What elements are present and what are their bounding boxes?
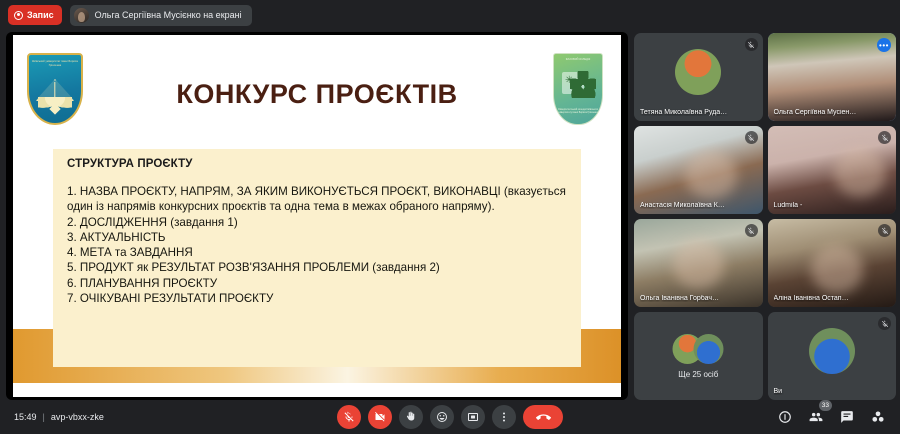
bottom-right-actions: 33	[775, 407, 888, 427]
more-people-label: Ще 25 осіб	[634, 370, 763, 379]
people-count-badge: 33	[819, 400, 832, 411]
meeting-info: 15:49 | avp-vbxx-zke	[14, 412, 104, 422]
video-feed	[634, 219, 763, 307]
slide-line-1: 1. НАЗВА ПРОЄКТУ, НАПРЯМ, ЗА ЯКИМ ВИКОНУ…	[67, 184, 567, 215]
mic-off-icon	[745, 131, 758, 144]
shared-screen-stage[interactable]: Київський університет імені Бориса Грінч…	[6, 32, 628, 400]
avatar	[694, 334, 724, 364]
mic-off-icon	[745, 224, 758, 237]
participant-tile-ostapenko[interactable]: Аліна Іванівна Остап…	[768, 219, 897, 307]
slide-line-6: 6. ПЛАНУВАННЯ ПРОЄКТУ	[67, 276, 567, 291]
end-call-button[interactable]	[523, 405, 563, 429]
participant-name: Ludmila -	[774, 202, 879, 209]
clock-label: 15:49	[14, 412, 37, 422]
mic-off-icon	[878, 224, 891, 237]
participant-tile-ludmila[interactable]: Ludmila -	[768, 126, 897, 214]
participant-tile-ruda[interactable]: Тетяна Миколаївна Руда…	[634, 33, 763, 121]
reactions-button[interactable]	[430, 405, 454, 429]
raise-hand-button[interactable]	[399, 405, 423, 429]
bottom-bar: 15:49 | avp-vbxx-zke 33	[0, 400, 900, 434]
avatar	[675, 49, 721, 95]
participant-name: Ольга Іванівна Горбач…	[640, 295, 745, 302]
meeting-details-button[interactable]	[775, 407, 795, 427]
video-feed	[634, 126, 763, 214]
participant-tile-horbach[interactable]: Ольга Іванівна Горбач…	[634, 219, 763, 307]
participant-name: Ви	[774, 388, 879, 395]
activities-button[interactable]	[868, 407, 888, 427]
slide-decor-footer	[13, 383, 621, 397]
presenter-label: Ольга Сергіївна Мусієнко на екрані	[95, 10, 242, 20]
presentation-slide: Київський університет імені Бориса Грінч…	[13, 35, 621, 397]
participant-name: Ольга Сергіївна Мусіен…	[774, 109, 879, 116]
slide-panel-list: 1. НАЗВА ПРОЄКТУ, НАПРЯМ, ЗА ЯКИМ ВИКОНУ…	[67, 184, 567, 306]
top-bar: Запис Ольга Сергіївна Мусієнко на екрані	[0, 0, 900, 30]
presenter-avatar-icon	[74, 8, 89, 23]
mic-off-icon	[878, 317, 891, 330]
mic-off-icon	[745, 38, 758, 51]
tile-options-icon[interactable]: •••	[877, 38, 891, 52]
slide-line-2: 2. ДОСЛІДЖЕННЯ (завдання 1)	[67, 215, 567, 230]
slide-line-4: 4. МЕТА та ЗАВДАННЯ	[67, 245, 567, 260]
participant-name: Аліна Іванівна Остап…	[774, 295, 879, 302]
slide-panel-heading: СТРУКТУРА ПРОЄКТУ	[67, 158, 567, 170]
participant-name: Анастасія Миколаївна К…	[640, 202, 745, 209]
crest-left-caption: Київський університет імені Бориса Грінч…	[29, 60, 81, 68]
slide-line-7: 7. ОЧІКУВАНІ РЕЗУЛЬТАТИ ПРОЄКТУ	[67, 291, 567, 306]
participant-tile-self[interactable]: Ви	[768, 312, 897, 400]
recording-label: Запис	[27, 10, 54, 20]
avatar-stack	[673, 334, 724, 364]
participant-tile-more-people[interactable]: Ще 25 осіб	[634, 312, 763, 400]
more-options-button[interactable]	[492, 405, 516, 429]
participant-name: Тетяна Миколаївна Руда…	[640, 109, 745, 116]
microphone-off-button[interactable]	[337, 405, 361, 429]
participant-tile-musiienko[interactable]: ••• Ольга Сергіївна Мусіен…	[768, 33, 897, 121]
slide-line-5: 5. ПРОДУКТ як РЕЗУЛЬТАТ РОЗВ'ЯЗАННЯ ПРОБ…	[67, 260, 567, 275]
video-feed	[768, 126, 897, 214]
video-feed	[768, 219, 897, 307]
camera-off-button[interactable]	[368, 405, 392, 429]
mic-off-icon	[878, 131, 891, 144]
slide-line-3: 3. АКТУАЛЬНІСТЬ	[67, 230, 567, 245]
presenter-banner: Ольга Сергіївна Мусієнко на екрані	[70, 5, 252, 26]
participant-tile-anastasiia[interactable]: Анастасія Миколаївна К…	[634, 126, 763, 214]
present-screen-button[interactable]	[461, 405, 485, 429]
recording-badge[interactable]: Запис	[8, 5, 62, 25]
record-dot-icon	[14, 11, 23, 20]
slide-content-panel: СТРУКТУРА ПРОЄКТУ 1. НАЗВА ПРОЄКТУ, НАПР…	[53, 149, 581, 367]
avatar	[809, 328, 855, 374]
meeting-code-label: avp-vbxx-zke	[51, 412, 104, 422]
people-button[interactable]: 33	[806, 407, 826, 427]
slide-title: КОНКУРС ПРОЄКТІВ	[13, 79, 621, 110]
participant-grid: Тетяна Миколаївна Руда… ••• Ольга Сергії…	[634, 33, 896, 400]
call-controls	[337, 405, 563, 429]
separator: |	[43, 412, 45, 422]
crest-right-caption-top: ФАХОВИЙ КОЛЕДЖ	[554, 58, 602, 62]
chat-button[interactable]	[837, 407, 857, 427]
